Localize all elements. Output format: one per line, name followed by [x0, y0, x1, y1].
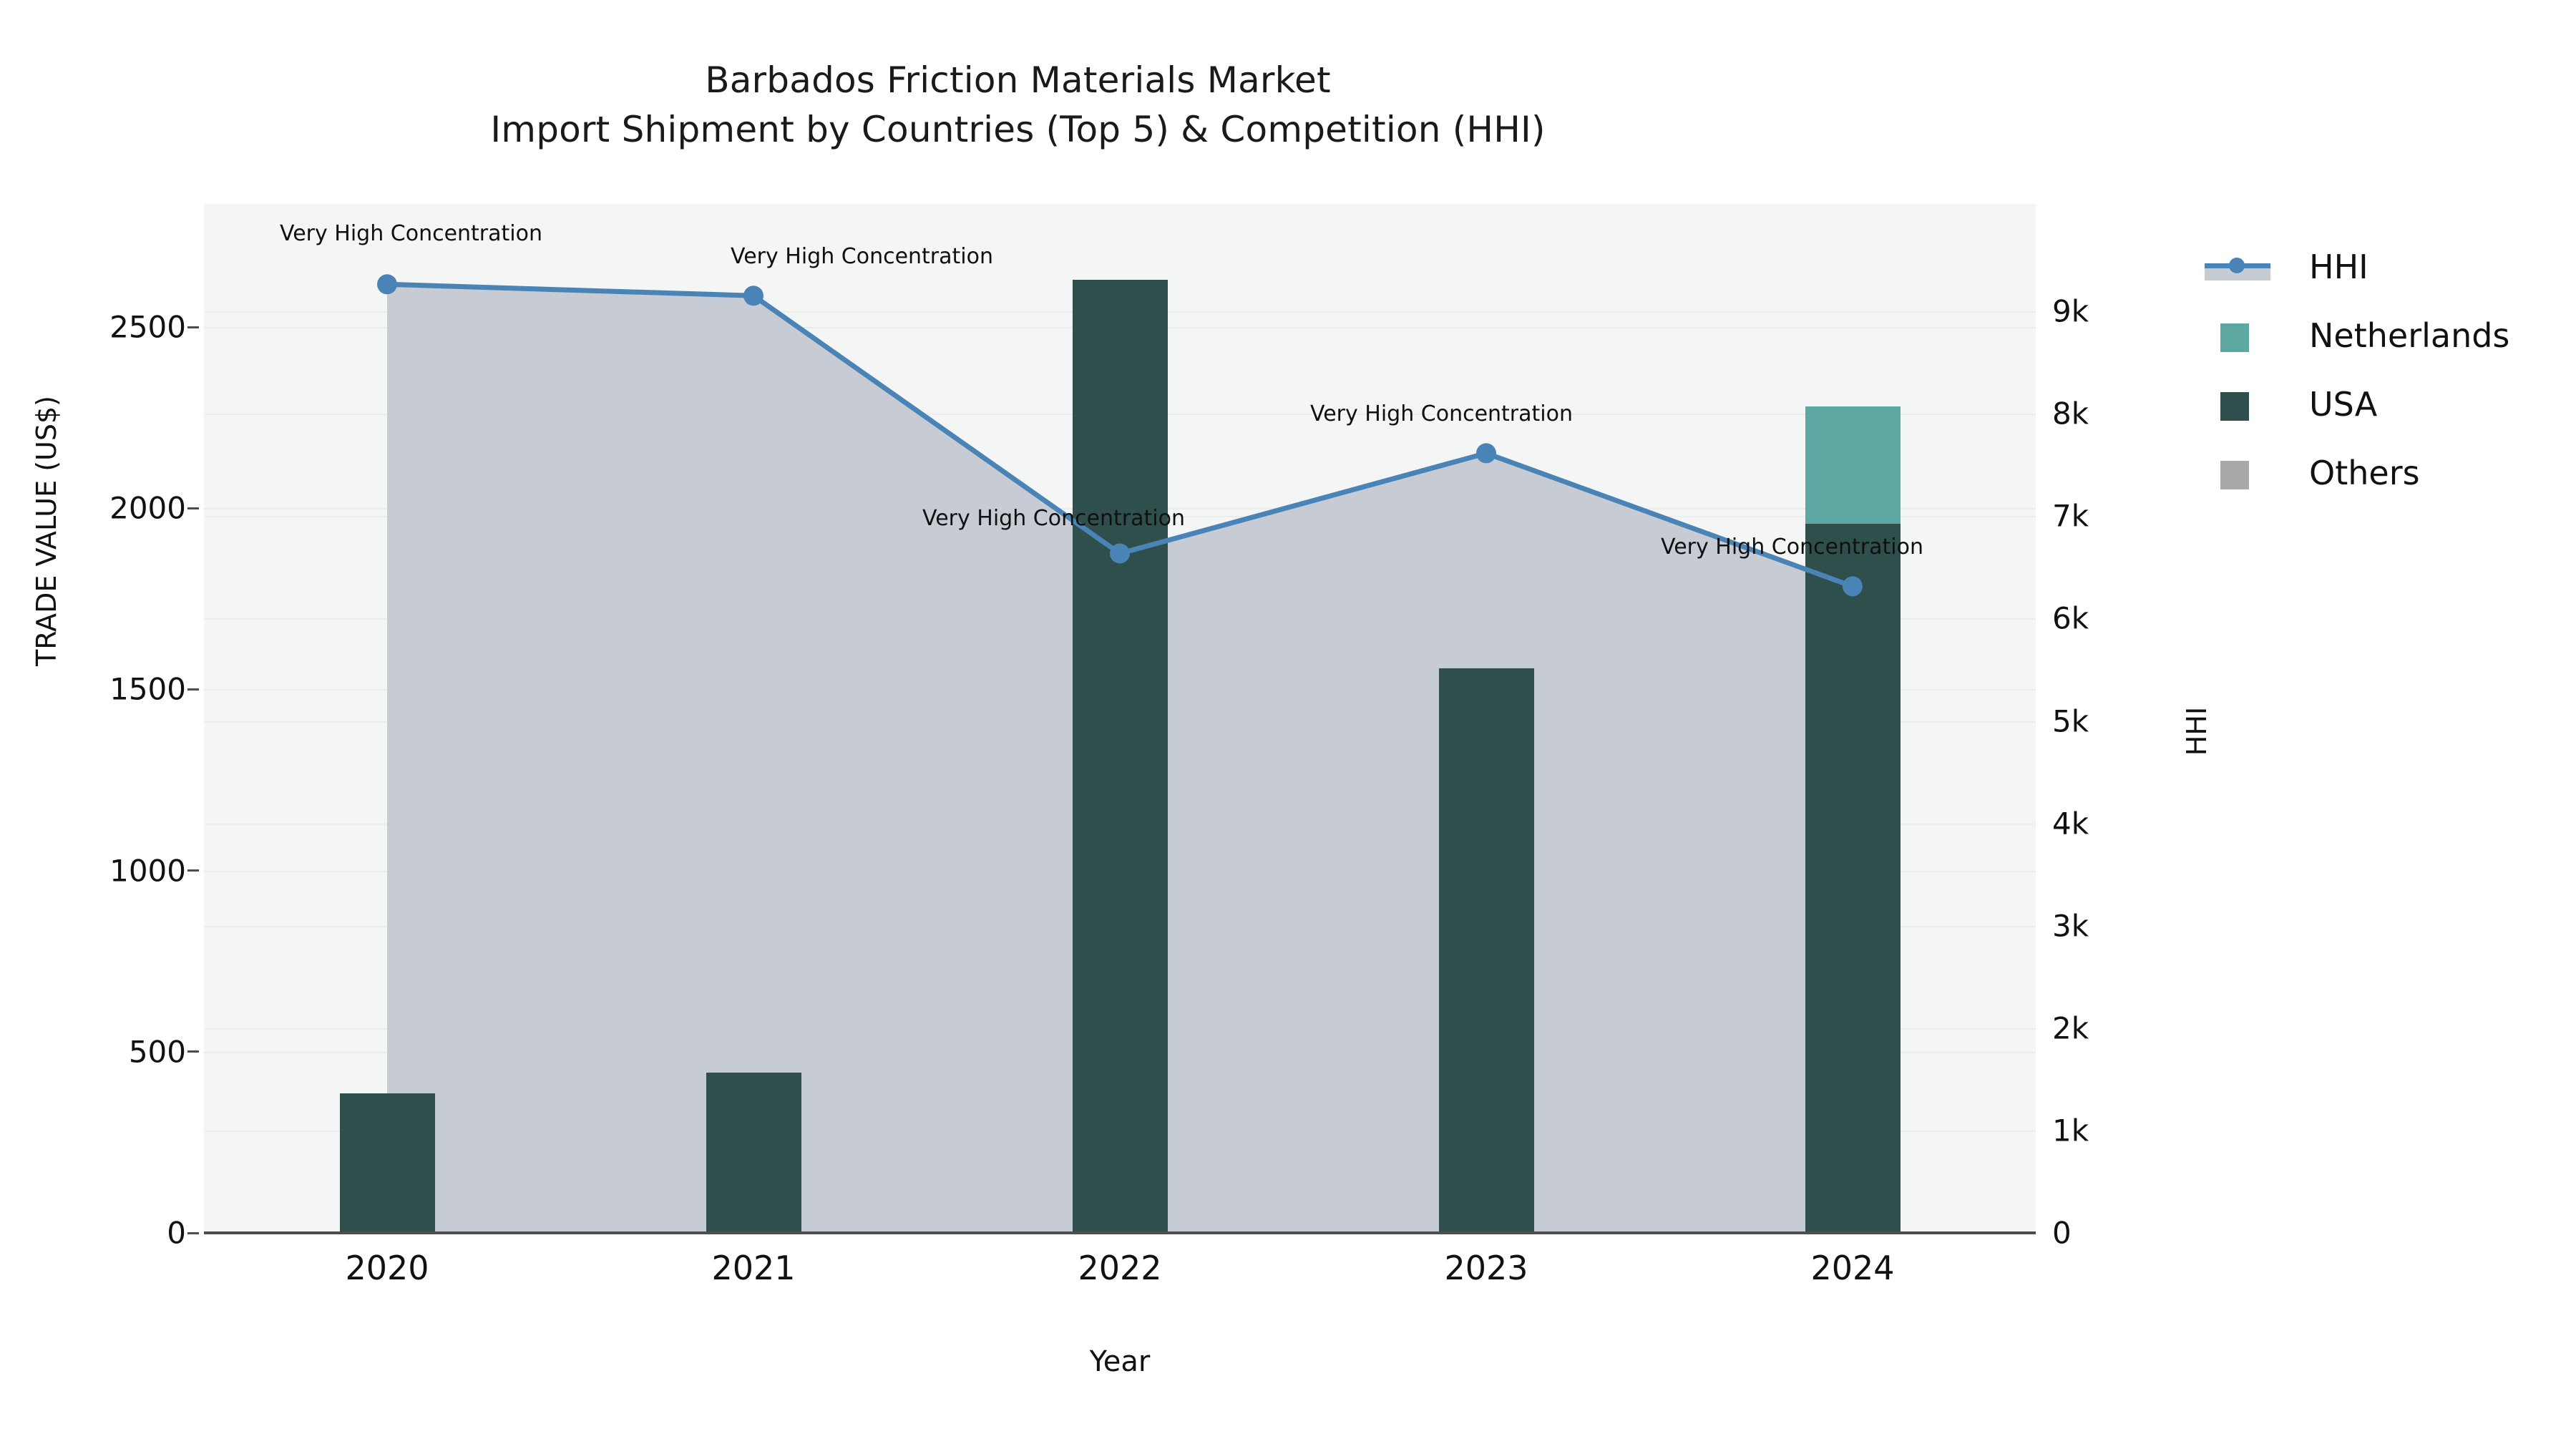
- x-axis-spine: [204, 1231, 2036, 1234]
- y-tick-left-2000: 2000: [109, 491, 186, 526]
- hhi-line-overlay: [204, 204, 2036, 1233]
- y-tick-left-500: 500: [129, 1034, 186, 1069]
- y-tick-right-1k: 1k: [2052, 1113, 2089, 1148]
- y-tick-right-4k: 4k: [2052, 806, 2089, 841]
- legend-marker-icon: [2229, 258, 2245, 273]
- legend-label: USA: [2309, 385, 2377, 424]
- legend-label: Netherlands: [2309, 316, 2509, 355]
- y-axis-right-ticks: 01k2k3k4k5k6k7k8k9k: [2052, 204, 2167, 1233]
- annotation-2022: Very High Concentration: [922, 506, 1185, 531]
- y-tick-mark: [187, 1050, 199, 1053]
- legend-color-swatch: [2220, 461, 2249, 489]
- chart-title: Barbados Friction Materials Market: [0, 56, 2036, 105]
- legend-item-usa[interactable]: USA: [2200, 370, 2558, 439]
- legend-item-netherlands[interactable]: Netherlands: [2200, 301, 2558, 370]
- y-tick-right-2k: 2k: [2052, 1010, 2089, 1045]
- y-tick-mark: [187, 688, 199, 691]
- y-tick-right-3k: 3k: [2052, 908, 2089, 943]
- legend-key-others: [2200, 452, 2293, 494]
- y-axis-left-label: TRADE VALUE (US$): [31, 280, 62, 781]
- y-tick-left-2500: 2500: [109, 310, 186, 345]
- y-tick-left-1500: 1500: [109, 672, 186, 707]
- y-tick-right-7k: 7k: [2052, 499, 2089, 534]
- chart-legend: HHINetherlandsUSAOthers: [2200, 233, 2558, 507]
- x-tick-2022: 2022: [1078, 1249, 1161, 1287]
- y-tick-right-8k: 8k: [2052, 396, 2089, 431]
- y-tick-mark: [187, 326, 199, 328]
- chart-title-block: Barbados Friction Materials Market Impor…: [0, 56, 2036, 155]
- annotation-2024: Very High Concentration: [1661, 535, 1923, 560]
- x-tick-2020: 2020: [345, 1249, 429, 1287]
- legend-key-netherlands: [2200, 315, 2293, 356]
- hhi-marker-2024[interactable]: [1843, 576, 1863, 596]
- y-tick-right-9k: 9k: [2052, 294, 2089, 329]
- annotation-2020: Very High Concentration: [280, 221, 542, 246]
- legend-item-hhi[interactable]: HHI: [2200, 233, 2558, 301]
- y-tick-right-6k: 6k: [2052, 601, 2089, 636]
- y-tick-mark: [187, 507, 199, 509]
- annotation-2023: Very High Concentration: [1310, 401, 1573, 426]
- y-tick-left-1000: 1000: [109, 853, 186, 888]
- legend-label: Others: [2309, 454, 2420, 492]
- x-tick-2024: 2024: [1810, 1249, 1894, 1287]
- hhi-marker-2021[interactable]: [743, 286, 763, 306]
- annotation-2021: Very High Concentration: [731, 244, 993, 269]
- hhi-markers: [377, 274, 1863, 596]
- chart-figure: Barbados Friction Materials Market Impor…: [0, 0, 2576, 1449]
- legend-item-others[interactable]: Others: [2200, 439, 2558, 507]
- hhi-marker-2023[interactable]: [1476, 443, 1496, 463]
- hhi-marker-2020[interactable]: [377, 274, 397, 294]
- plot-area: Very High ConcentrationVery High Concent…: [204, 204, 2036, 1233]
- legend-key-hhi: [2200, 246, 2293, 288]
- hhi-line-path: [387, 284, 1853, 586]
- y-tick-right-0: 0: [2052, 1216, 2072, 1251]
- y-tick-mark: [187, 869, 199, 872]
- y-tick-right-5k: 5k: [2052, 703, 2089, 738]
- x-axis-ticks: 20202021202220232024: [204, 1249, 2036, 1299]
- hhi-marker-2022[interactable]: [1110, 544, 1130, 564]
- y-tick-left-0: 0: [167, 1216, 186, 1251]
- legend-color-swatch: [2220, 323, 2249, 352]
- y-tick-mark: [187, 1232, 199, 1234]
- x-tick-2021: 2021: [711, 1249, 795, 1287]
- legend-color-swatch: [2220, 392, 2249, 421]
- y-axis-right-label: HHI: [2181, 481, 2212, 982]
- chart-subtitle: Import Shipment by Countries (Top 5) & C…: [0, 105, 2036, 155]
- x-tick-2023: 2023: [1444, 1249, 1528, 1287]
- x-axis-label: Year: [204, 1345, 2036, 1378]
- legend-label: HHI: [2309, 248, 2368, 286]
- legend-key-usa: [2200, 384, 2293, 425]
